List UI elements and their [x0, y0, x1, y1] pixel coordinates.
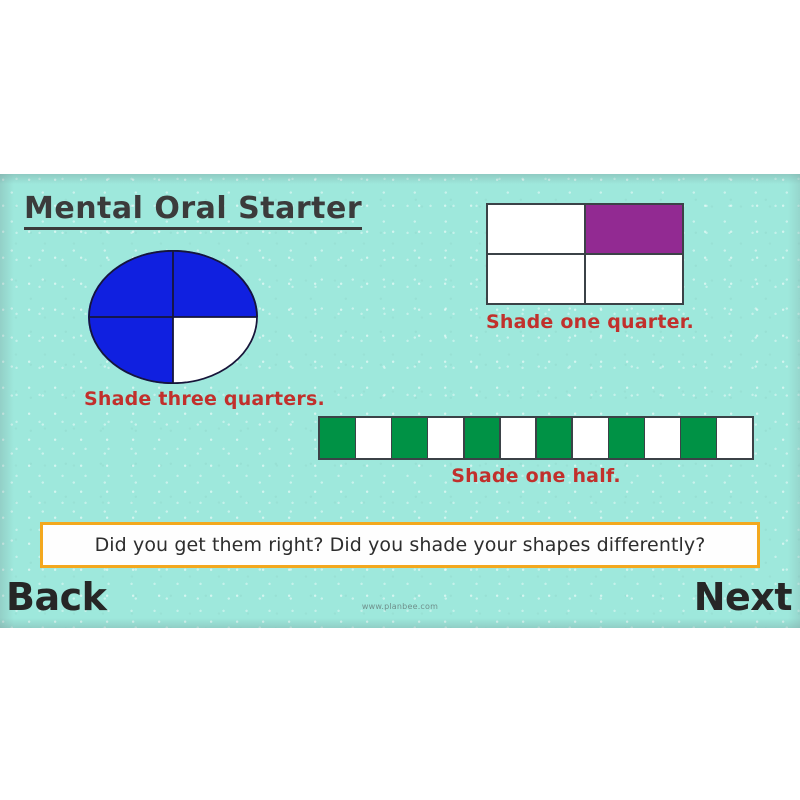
bar-cell-1	[320, 418, 355, 458]
bar-cell-7	[537, 418, 572, 458]
rectangle-cell-top-left	[488, 205, 584, 253]
question-text: Did you get them right? Did you shade yo…	[95, 534, 706, 556]
bar-cell-12	[717, 418, 752, 458]
bar-cell-6	[501, 418, 536, 458]
rectangle-fraction-group: Shade one quarter.	[486, 203, 684, 333]
rectangle-cell-top-right	[586, 205, 682, 253]
circle-fraction-caption: Shade three quarters.	[84, 388, 262, 410]
watermark: www.planbee.com	[0, 602, 800, 611]
bar-cell-4	[428, 418, 463, 458]
bar-fraction-caption: Shade one half.	[318, 465, 754, 487]
bar-cell-5	[465, 418, 500, 458]
circle-fraction-group: Shade three quarters.	[88, 250, 266, 410]
bar-cell-3	[392, 418, 427, 458]
bar-cell-11	[681, 418, 716, 458]
bar-cell-9	[609, 418, 644, 458]
page-title: Mental Oral Starter	[24, 193, 362, 230]
rectangle-cell-bottom-right	[586, 255, 682, 303]
circle-fraction-diagram	[88, 250, 258, 384]
bar-cell-8	[573, 418, 608, 458]
rectangle-cell-bottom-left	[488, 255, 584, 303]
question-box: Did you get them right? Did you shade yo…	[40, 522, 760, 568]
lesson-slide: Mental Oral Starter Shade three quarters…	[0, 174, 800, 628]
bar-cell-2	[356, 418, 391, 458]
bar-fraction-diagram	[318, 416, 754, 460]
screenshot-stage: Mental Oral Starter Shade three quarters…	[0, 0, 800, 800]
bar-cell-10	[645, 418, 680, 458]
rectangle-fraction-diagram	[486, 203, 684, 305]
rectangle-fraction-caption: Shade one quarter.	[486, 311, 684, 333]
bar-fraction-group: Shade one half.	[318, 416, 754, 487]
